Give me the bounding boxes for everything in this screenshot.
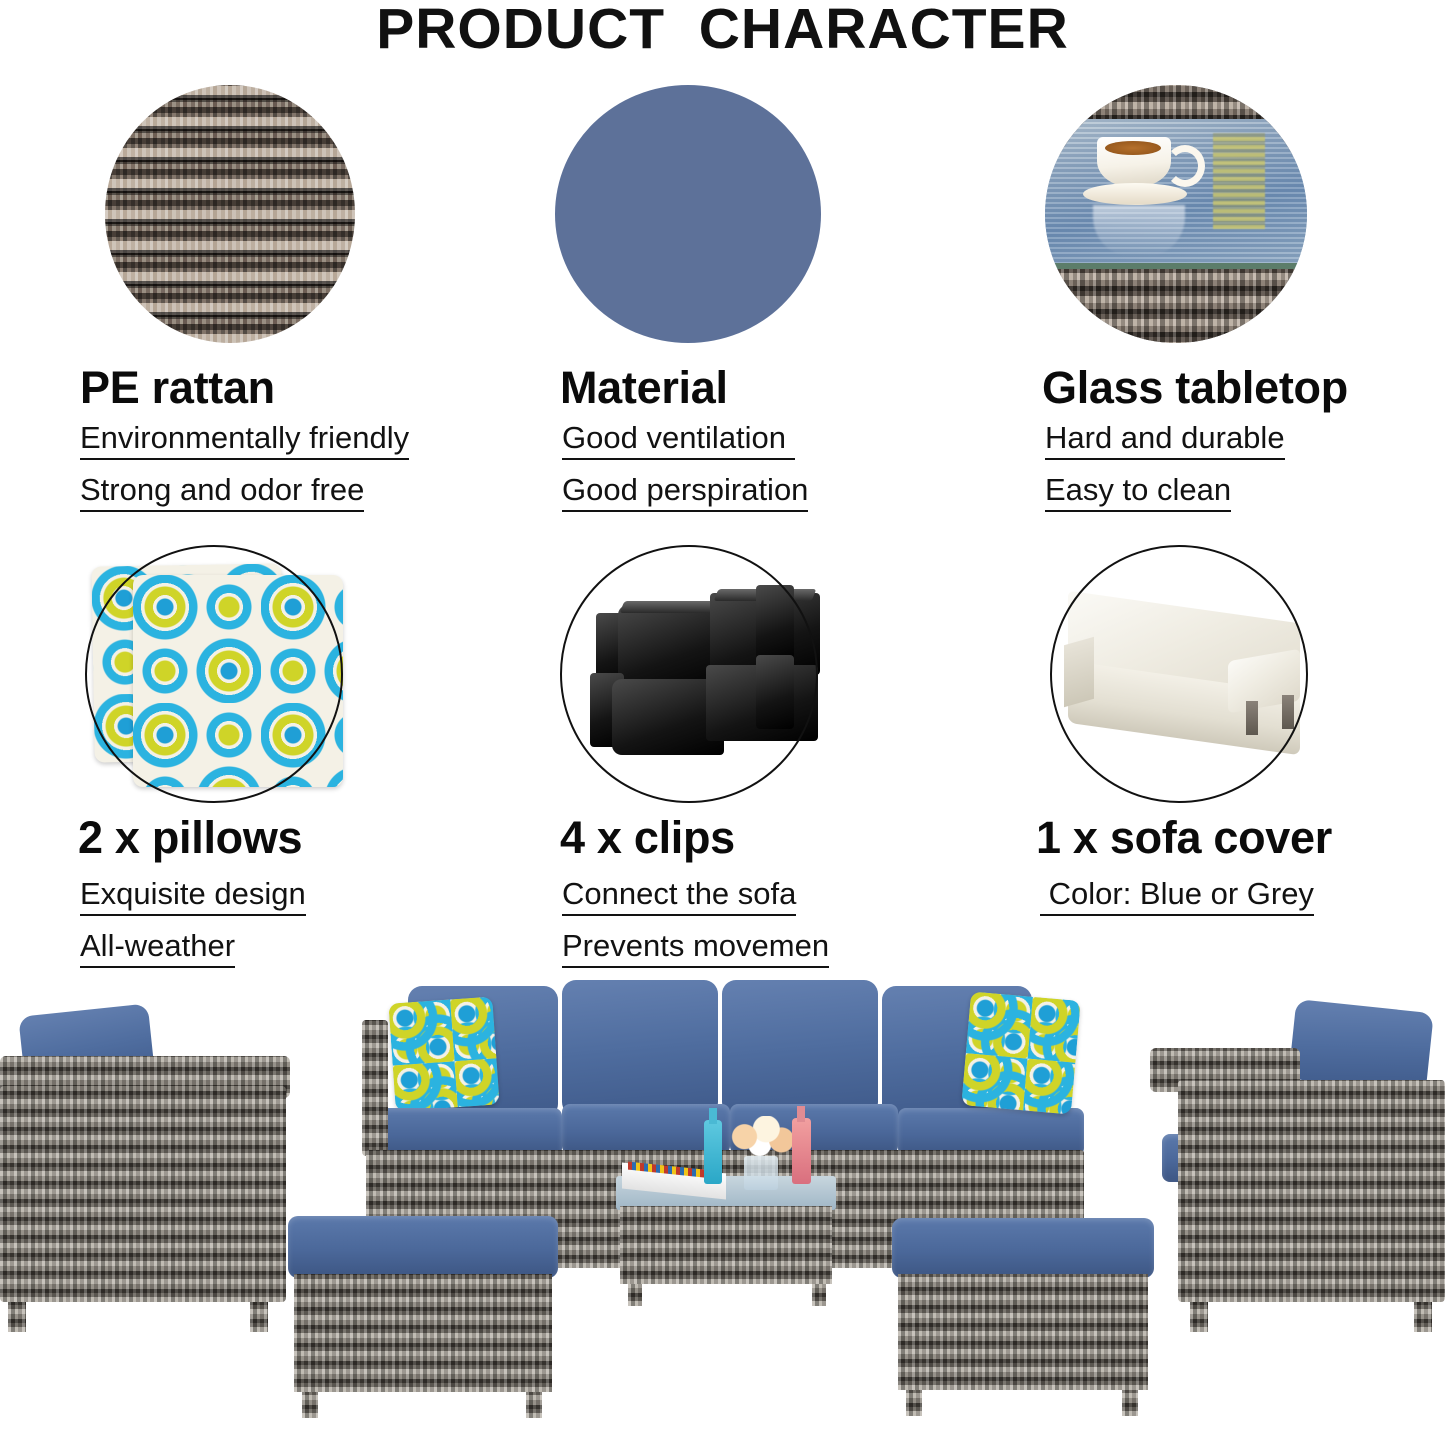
black-connector-clips-icon bbox=[560, 545, 830, 807]
feature-heading: PE rattan bbox=[80, 362, 275, 414]
feature-subline: Good perspiration bbox=[562, 474, 808, 512]
blue-fabric-swatch-icon bbox=[555, 85, 821, 343]
teacup-on-glass-table-icon bbox=[1045, 85, 1307, 343]
accent-pillow-left bbox=[388, 997, 499, 1112]
woven-rattan-texture-icon bbox=[105, 85, 355, 343]
feature-heading: Material bbox=[560, 362, 728, 414]
feature-subline: Exquisite design bbox=[80, 878, 306, 916]
beige-furniture-cover-icon bbox=[1050, 545, 1330, 807]
feature-subline: Hard and durable bbox=[1045, 422, 1285, 460]
feature-subline: Good ventilation bbox=[562, 422, 795, 460]
teal-bottle bbox=[704, 1120, 722, 1184]
patterned-throw-pillows-icon bbox=[85, 545, 385, 807]
page-title: PRODUCT CHARACTER bbox=[0, 0, 1445, 62]
feature-heading: Glass tabletop bbox=[1042, 362, 1348, 414]
feature-subline: Color: Blue or Grey bbox=[1040, 878, 1314, 916]
product-photo bbox=[0, 968, 1445, 1437]
flower-vase bbox=[744, 1156, 778, 1190]
feature-heading: 1 x sofa cover bbox=[1036, 812, 1332, 864]
feature-heading: 2 x pillows bbox=[78, 812, 302, 864]
feature-subline: Easy to clean bbox=[1045, 474, 1231, 512]
accent-pillow-right bbox=[961, 991, 1081, 1114]
feature-subline: Connect the sofa bbox=[562, 878, 796, 916]
pink-bottle bbox=[792, 1118, 811, 1184]
feature-subline: Prevents movemen bbox=[562, 930, 829, 968]
feature-subline: Strong and odor free bbox=[80, 474, 364, 512]
feature-subline: Environmentally friendly bbox=[80, 422, 409, 460]
feature-subline: All-weather bbox=[80, 930, 235, 968]
feature-heading: 4 x clips bbox=[560, 812, 735, 864]
